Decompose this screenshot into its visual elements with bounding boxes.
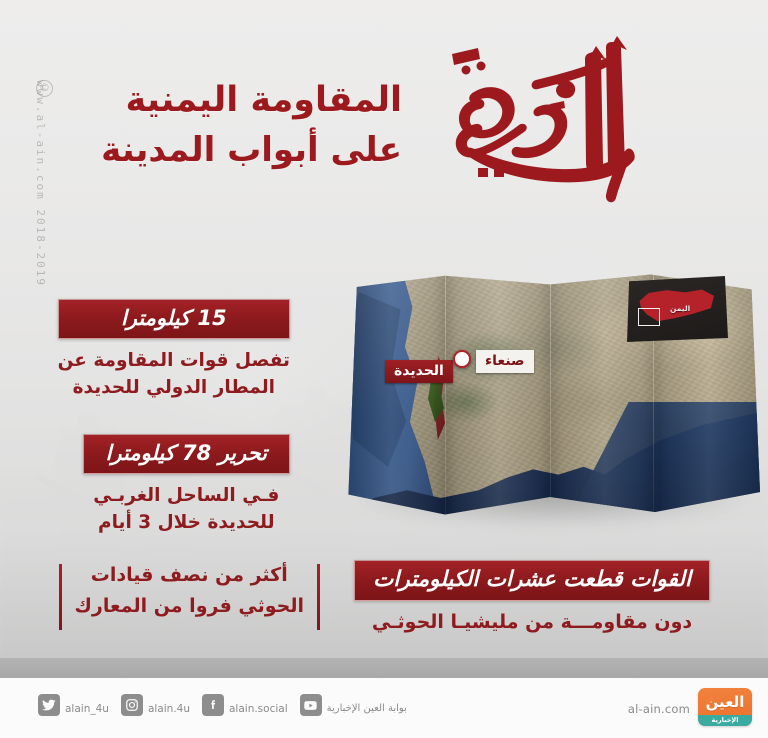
quote-line-1: أكثر من نصف قيادات — [75, 560, 305, 591]
yemen-map: الحديدة صنعاء اليمن — [340, 272, 760, 542]
al-ain-logo[interactable]: العين الإخبارية — [698, 688, 752, 726]
social-item-twitter[interactable]: alain_4u — [38, 694, 109, 716]
map-fold-crease — [550, 272, 551, 522]
headline-line-2: على أبواب المدينة — [101, 126, 402, 174]
quote-block: أكثر من نصف قيادات الحوثي فروا من المعار… — [59, 560, 321, 622]
fact-banner-label: 15 كيلومترا — [58, 299, 290, 339]
social-links: alain_4u alain.4u alai — [38, 694, 419, 716]
youtube-icon — [300, 694, 322, 716]
brand-name-sub: الإخبارية — [698, 715, 752, 726]
bottom-claim-banner: القوات قطعت عشرات الكيلومترات — [354, 560, 710, 601]
footer-gray-band — [0, 658, 768, 678]
map-fold-crease — [445, 272, 446, 522]
social-handle-facebook: alain.social — [229, 702, 288, 716]
social-item-youtube[interactable]: بوابة العين الإخبارية — [300, 694, 407, 716]
footer: alain_4u alain.4u alai — [0, 678, 768, 738]
map-marker-sanaa-icon — [453, 350, 471, 368]
brand-name-main: العين — [698, 690, 752, 714]
inset-focus-rectangle — [638, 308, 660, 326]
watermark-text: www.al-ain.com 2018-2019 — [34, 80, 47, 287]
fact-box-distance: 15 كيلومترا تفصل قوات المقاومة عن المطار… — [58, 299, 290, 402]
fact-body-line-2: المطار الدولي للحديدة — [58, 375, 290, 402]
facebook-icon — [202, 694, 224, 716]
instagram-icon — [121, 694, 143, 716]
fact-body-line-2: للحديدة خلال 3 أيام — [83, 510, 290, 537]
bottom-claim-subtitle: دون مقاومـــة من مليشيـا الحوثـي — [336, 611, 728, 633]
social-handle-youtube: بوابة العين الإخبارية — [327, 702, 407, 716]
twitter-icon — [38, 694, 60, 716]
map-label-hudaydah: الحديدة — [385, 360, 453, 383]
fact-body-line-1: تفصل قوات المقاومة عن — [58, 348, 290, 375]
website-url[interactable]: al-ain.com — [628, 702, 690, 716]
inset-label-yemen: اليمن — [670, 304, 690, 313]
map-label-sanaa: صنعاء — [476, 350, 534, 373]
page-title: المقاومة اليمنية على أبواب المدينة — [101, 76, 402, 174]
quote-line-2: الحوثي فروا من المعارك — [75, 591, 305, 622]
quote-rule-left — [59, 564, 62, 630]
map-inset-panel: اليمن — [626, 276, 728, 342]
quote-rule-right — [317, 564, 320, 630]
social-handle-twitter: alain_4u — [65, 702, 109, 716]
fact-banner-label: تحرير 78 كيلومترا — [83, 434, 290, 474]
brand-subtitle-bar: الإخبارية — [698, 715, 752, 726]
infographic-poster: © www.al-ain.com 2018-2019 المقاومة اليم… — [0, 0, 768, 738]
social-handle-instagram: alain.4u — [148, 702, 190, 716]
fact-body-line-1: فـي الساحل الغربـي — [83, 483, 290, 510]
bottom-claim-block: القوات قطعت عشرات الكيلومترات دون مقاومـ… — [336, 560, 728, 633]
social-item-facebook[interactable]: alain.social — [202, 694, 288, 716]
social-item-instagram[interactable]: alain.4u — [121, 694, 190, 716]
headline-line-1: المقاومة اليمنية — [101, 76, 402, 126]
al-hudaydah-calligraphy-icon — [428, 28, 668, 208]
fact-box-liberated: تحرير 78 كيلومترا فـي الساحل الغربـي للح… — [83, 434, 290, 537]
